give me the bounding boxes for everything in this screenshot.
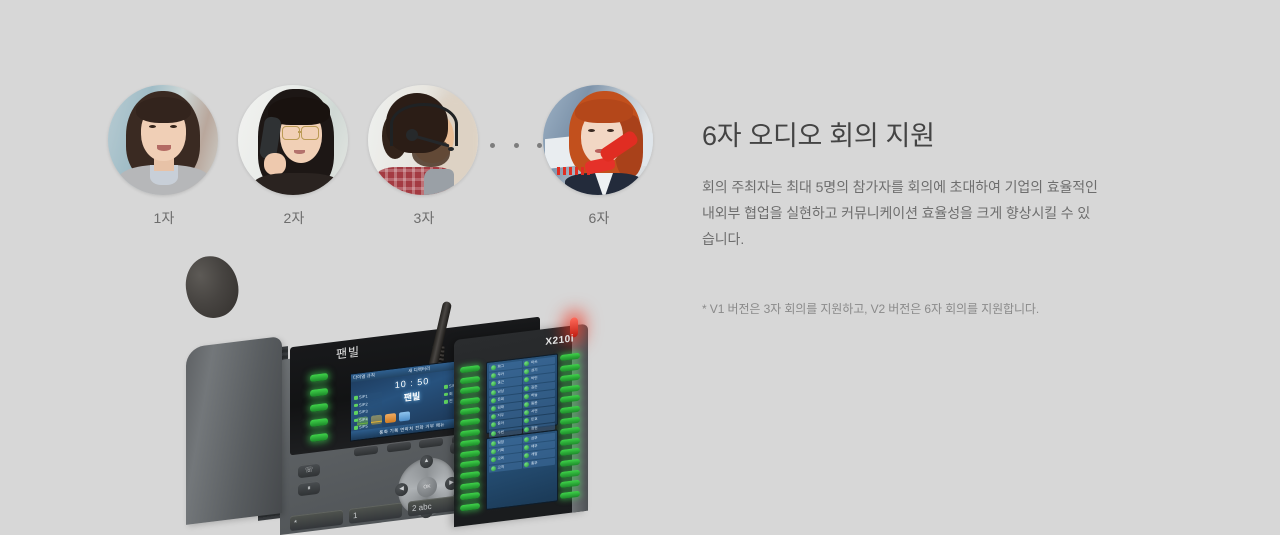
participant-label: 6자: [543, 208, 655, 228]
participant-label: 3자: [368, 208, 480, 228]
contact-status-icon: [491, 457, 496, 463]
expansion-key[interactable]: [560, 363, 580, 371]
footnote: * V1 버전은 3자 회의를 지원하고, V2 버전은 6자 회의를 지원합니…: [702, 300, 1102, 317]
expansion-key[interactable]: [460, 397, 480, 405]
expansion-contact-label: 은희: [498, 397, 505, 403]
contact-status-icon: [524, 377, 529, 383]
expansion-key[interactable]: [560, 480, 580, 488]
contact-status-icon: [491, 431, 496, 437]
headset-icon[interactable]: ☏: [298, 463, 320, 479]
dot: [514, 143, 519, 148]
contact-status-icon: [524, 453, 529, 459]
contact-status-icon: [491, 381, 496, 387]
expansion-lcd-page-1[interactable]: 화그마쓰루카성기홍근박민남상길준은희하늘김태동윤지우서연윤아민호수빈정현: [486, 353, 558, 434]
expansion-contact-label: 화그: [498, 364, 505, 370]
device-brand-label: 팬빌: [336, 343, 360, 363]
expansion-contact-label: 박민: [531, 376, 538, 382]
participant-avatar-row: 1자 2자: [100, 85, 670, 240]
gooseneck-microphone-icon[interactable]: [180, 251, 244, 322]
expansion-contact-label: 루카: [498, 372, 505, 378]
avatar-woman-smiling: [108, 85, 218, 195]
line-key-led[interactable]: [310, 373, 328, 382]
expansion-key[interactable]: [560, 459, 580, 467]
expansion-key[interactable]: [460, 376, 480, 384]
phone-handset[interactable]: [186, 336, 282, 525]
avatar-woman-red-handset: [543, 85, 653, 195]
hold-icon[interactable]: ⏸: [298, 481, 320, 497]
expansion-key[interactable]: [460, 492, 480, 500]
expansion-contact-label: 김태: [498, 405, 505, 411]
contact-status-icon: [491, 365, 496, 371]
expansion-key[interactable]: [560, 448, 580, 456]
expansion-key[interactable]: [460, 460, 480, 468]
expansion-key[interactable]: [560, 395, 580, 403]
expansion-key[interactable]: [560, 416, 580, 424]
contact-status-icon: [524, 437, 529, 443]
expansion-key[interactable]: [460, 418, 480, 426]
participant-label: 1자: [108, 208, 220, 228]
dot: [490, 143, 495, 148]
lcd-line-key-label: SIP2: [359, 401, 368, 408]
ip-phone-device: 팬빌 다이얼 규칙 새 디렉터리 100 10 : 50 팬빌 SIP1 SIP…: [186, 248, 586, 519]
page-title: 6자 오디오 회의 지원: [702, 120, 1102, 152]
line-key-led[interactable]: [310, 388, 328, 397]
messages-app-icon[interactable]: [399, 411, 410, 421]
expansion-contact-label: 홍근: [498, 380, 505, 386]
contact-status-icon: [524, 369, 529, 375]
expansion-lcd-page-2[interactable]: 팀장상무기획재무교육개발고객총무: [486, 429, 558, 510]
contact-status-icon: [491, 422, 496, 428]
participant-6[interactable]: 6자: [543, 85, 655, 228]
contact-status-icon: [491, 466, 496, 472]
contact-status-icon: [491, 373, 496, 379]
line-key-led[interactable]: [310, 433, 328, 442]
contact-status-icon: [524, 445, 529, 451]
expansion-key[interactable]: [460, 386, 480, 394]
contact-status-icon: [524, 394, 529, 400]
expansion-contact-label: 정현: [531, 425, 538, 431]
expansion-key[interactable]: [460, 503, 480, 511]
expansion-contact-label: 총무: [531, 460, 538, 466]
expansion-module: X210i: [454, 324, 586, 527]
expansion-key[interactable]: [560, 427, 580, 435]
contact-status-icon: [524, 410, 529, 416]
expansion-contact-label: 고객: [498, 465, 505, 471]
expansion-key[interactable]: [560, 374, 580, 382]
avatar-man-headset: [368, 85, 478, 195]
contact-status-icon: [491, 449, 496, 455]
expansion-contact-label: 동윤: [531, 401, 538, 407]
device-model-label: X210i: [545, 333, 574, 348]
expansion-contact-label: 재무: [531, 444, 538, 450]
expansion-contact-label: 팀장: [498, 440, 505, 446]
three-dots-icon: [490, 143, 542, 148]
expansion-contact-label: 기획: [498, 448, 505, 454]
expansion-key[interactable]: [460, 365, 480, 373]
contact-status-icon: [491, 414, 496, 420]
contact-status-icon: [524, 402, 529, 408]
contact-status-icon: [524, 418, 529, 424]
feature-description: 회의 주최자는 최대 5명의 참가자를 회의에 초대하여 기업의 효율적인 내외…: [702, 174, 1102, 252]
expansion-key[interactable]: [560, 353, 580, 361]
contact-status-icon: [491, 441, 496, 447]
participant-3[interactable]: 3자: [368, 85, 480, 228]
line-key-led[interactable]: [310, 403, 328, 412]
contact-status-icon: [491, 398, 496, 404]
expansion-key[interactable]: [560, 490, 580, 498]
contact-status-icon: [524, 386, 529, 392]
expansion-contact-label: 하늘: [531, 393, 538, 399]
expansion-keys-right: [560, 353, 580, 504]
contact-status-icon: [491, 390, 496, 396]
expansion-key[interactable]: [560, 437, 580, 445]
expansion-contact-label: 윤아: [498, 421, 505, 427]
expansion-key[interactable]: [560, 384, 580, 392]
lcd-line-keys-left: SIP1 SIP2 SIP3 SIP4 SIP5: [352, 392, 382, 433]
expansion-contact-label: 교육: [498, 456, 505, 462]
line-key-leds-left: [310, 373, 328, 450]
lcd-line-key-label: SIP4: [359, 416, 368, 423]
expansion-key[interactable]: [460, 439, 480, 447]
expansion-key[interactable]: [460, 481, 480, 489]
lcd-line-key-label: SIP1: [359, 393, 368, 400]
participant-2[interactable]: 2자: [238, 85, 350, 228]
expansion-keys-left: [460, 365, 480, 516]
feature-copy-block: 6자 오디오 회의 지원 회의 주최자는 최대 5명의 참가자를 회의에 초대하…: [702, 120, 1102, 317]
expansion-contact-label: 성기: [531, 368, 538, 374]
participant-1[interactable]: 1자: [108, 85, 220, 228]
contact-status-icon: [524, 462, 529, 468]
expansion-key[interactable]: [460, 428, 480, 436]
avatar-woman-glasses-handset: [238, 85, 348, 195]
expansion-key[interactable]: [460, 450, 480, 458]
contact-status-icon: [491, 406, 496, 412]
line-key-led[interactable]: [310, 418, 328, 427]
expansion-key[interactable]: [460, 471, 480, 479]
expansion-contact-label: 수빈: [498, 430, 505, 436]
participant-label: 2자: [238, 208, 350, 228]
expansion-contact-label: 민호: [531, 417, 538, 423]
mail-app-icon[interactable]: [385, 413, 396, 423]
dot: [537, 143, 542, 148]
expansion-contact-label: 남상: [498, 389, 505, 395]
expansion-contact-label: 마쓰: [531, 360, 538, 366]
expansion-contact-label: 지우: [498, 413, 505, 419]
expansion-contact-label: 개발: [531, 452, 538, 458]
contact-status-icon: [524, 426, 529, 432]
promo-page: 1자 2자: [0, 0, 1280, 519]
expansion-key[interactable]: [460, 407, 480, 415]
expansion-contact-label: 상무: [531, 436, 538, 442]
lcd-line-key-label: SIP3: [359, 408, 368, 415]
expansion-key[interactable]: [560, 406, 580, 414]
lcd-status-center: 새 디렉터리: [408, 366, 430, 375]
expansion-key[interactable]: [560, 469, 580, 477]
expansion-contact-label: 서연: [531, 409, 538, 415]
contact-status-icon: [524, 361, 529, 367]
lcd-status-left: 다이얼 규칙: [353, 373, 375, 382]
expansion-contact-label: 길준: [531, 384, 538, 390]
